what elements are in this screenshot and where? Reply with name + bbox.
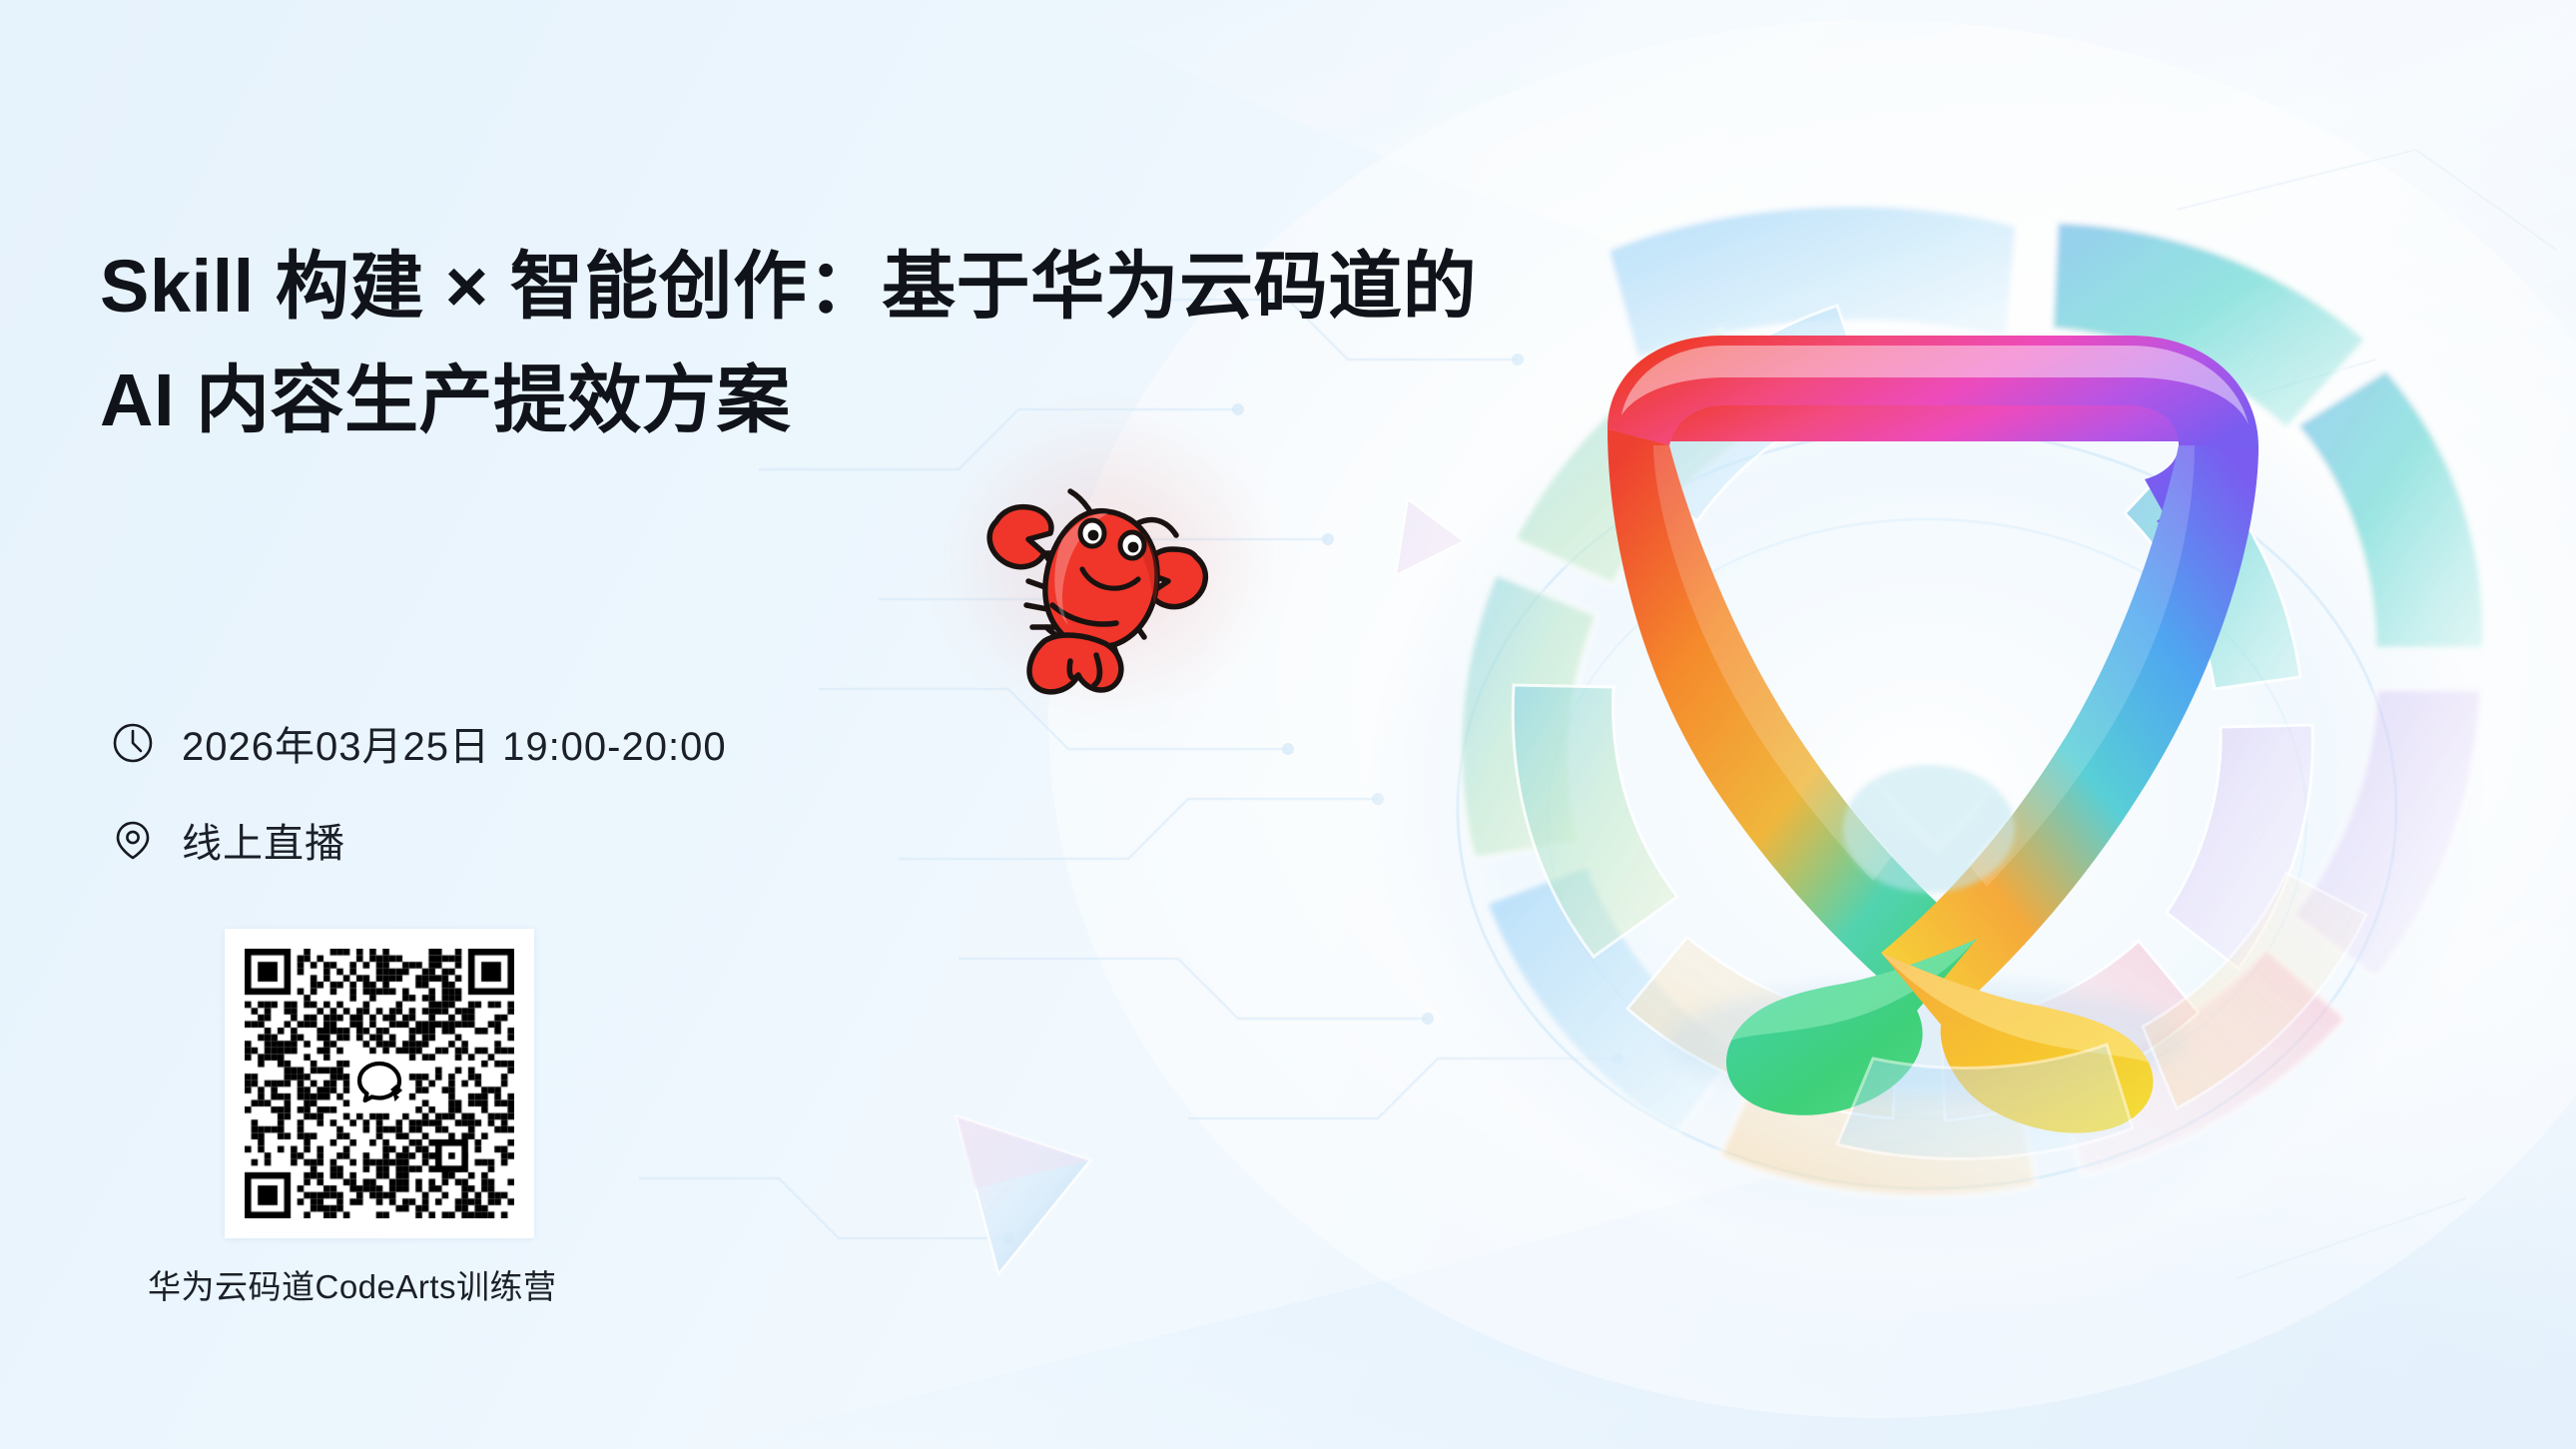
- wechat-bubble-icon: [349, 1054, 409, 1113]
- clock-icon: [110, 720, 156, 766]
- qr-caption: 华为云码道CodeArts训练营: [148, 1260, 557, 1308]
- qr-code-panel[interactable]: [225, 929, 534, 1238]
- event-location-row: 线上直播: [110, 811, 345, 869]
- page-title-line-1: Skill 构建 × 智能创作：基于华为云码道的: [100, 250, 1348, 324]
- event-location-text: 线上直播: [182, 811, 345, 869]
- lobster-mascot: [966, 429, 1246, 709]
- event-banner: Skill 构建 × 智能创作：基于华为云码道的 AI 内容生产提效方案 202…: [0, 0, 2576, 1449]
- location-pin-icon: [110, 817, 156, 863]
- event-datetime-row: 2026年03月25日 19:00-20:00: [110, 714, 727, 772]
- event-datetime-text: 2026年03月25日 19:00-20:00: [182, 714, 727, 772]
